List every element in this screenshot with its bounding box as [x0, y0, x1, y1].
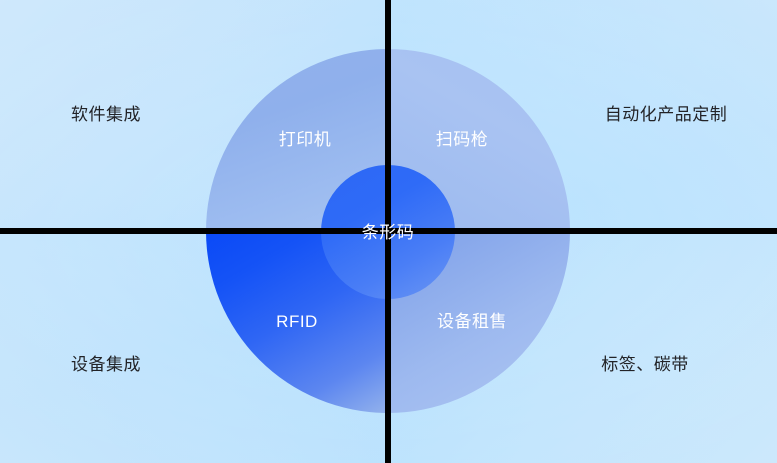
corner-label-automation-customization: 自动化产品定制 [605, 105, 728, 125]
corner-label-labels-ribbons: 标签、碳带 [601, 355, 689, 375]
wedge-label-equipment-rental: 设备租售 [437, 312, 507, 332]
diagram-canvas: 条形码 打印机 扫码枪 RFID 设备租售 软件集成 自动化产品定制 设备集成 … [0, 0, 777, 463]
wedge-label-scanner: 扫码枪 [436, 130, 489, 150]
corner-label-software-integration: 软件集成 [71, 105, 141, 125]
corner-label-equipment-integration: 设备集成 [71, 355, 141, 375]
wedge-label-printer: 打印机 [279, 130, 332, 150]
wedge-label-rfid: RFID [276, 312, 318, 332]
center-label: 条形码 [362, 223, 415, 243]
